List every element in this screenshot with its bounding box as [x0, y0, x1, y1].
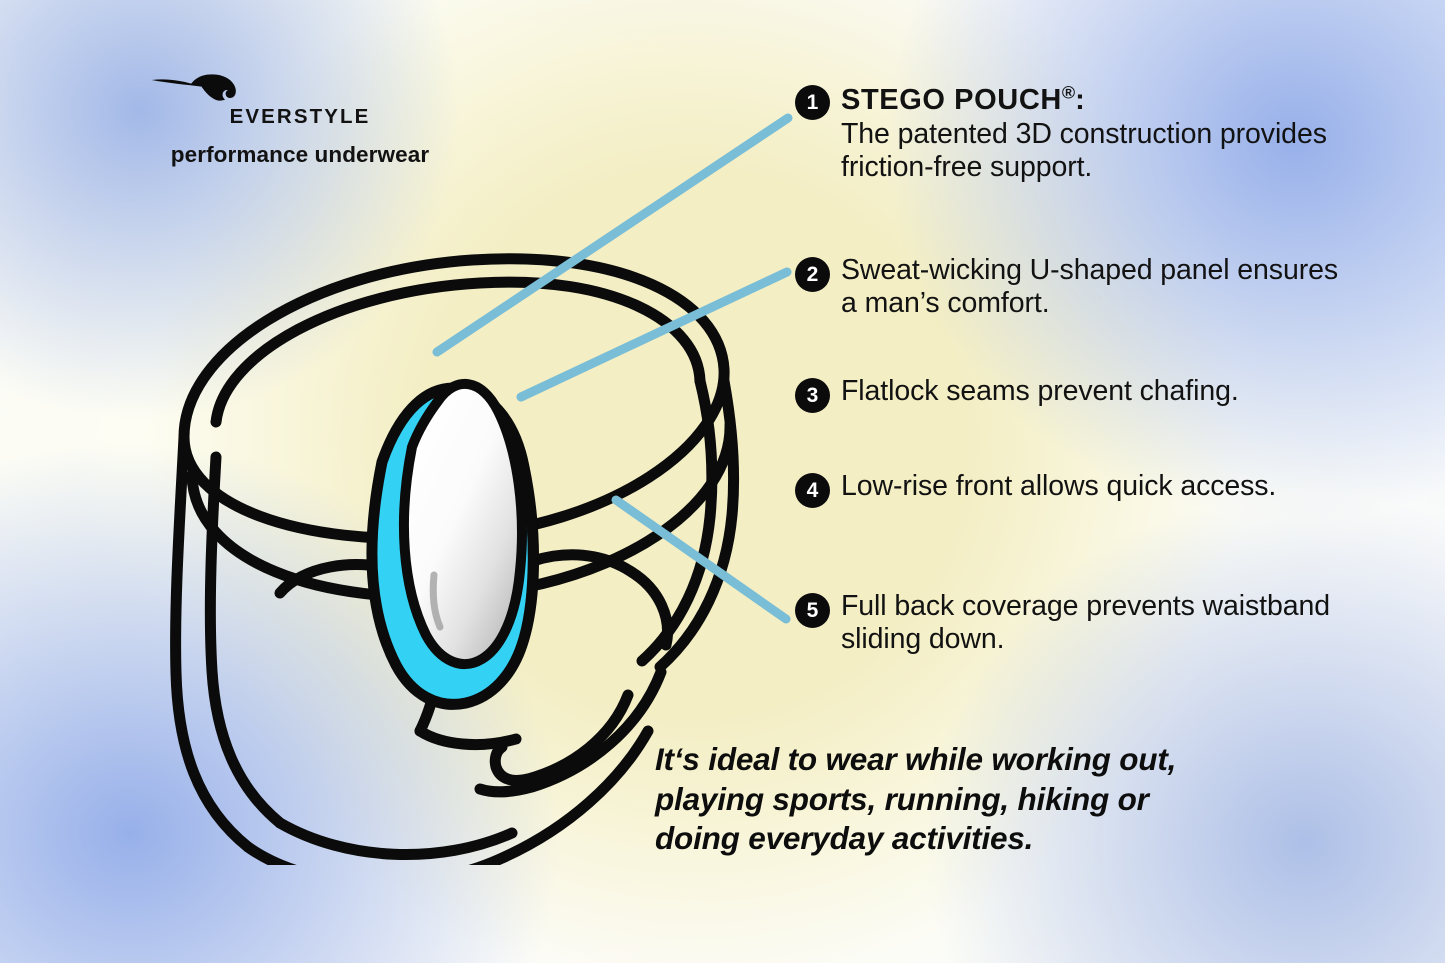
feature-text-2: Sweat-wicking U-shaped panel ensures a m… [841, 254, 1355, 321]
feature-text-3: Flatlock seams prevent chafing. [841, 375, 1239, 408]
brand-tagline: performance underwear [150, 142, 450, 168]
leg-opening-notch [495, 747, 528, 781]
feature-badge-5: 5 [795, 593, 830, 628]
feature-heading-1-colon: : [1075, 84, 1085, 116]
feature-body-3: Flatlock seams prevent chafing. [841, 375, 1239, 408]
brand-logo: EVERSTYLE performance underwear [150, 72, 450, 168]
feature-body-5: Full back coverage prevents waistband sl… [841, 590, 1355, 657]
feature-badge-1: 1 [795, 85, 830, 120]
feature-heading-1-label: STEGO POUCH [841, 84, 1062, 116]
gusset-seam [420, 731, 516, 745]
feature-body-2: Sweat-wicking U-shaped panel ensures a m… [841, 254, 1355, 321]
feature-text-5: Full back coverage prevents waistband sl… [841, 590, 1355, 657]
slogan-text: It‘s ideal to wear while working out, pl… [655, 740, 1355, 859]
registered-trademark-icon: ® [1062, 82, 1075, 102]
feature-body-1: The patented 3D construction provides fr… [841, 118, 1355, 185]
feature-text-4: Low-rise front allows quick access. [841, 470, 1276, 503]
feature-item-4: 4 Low-rise front allows quick access. [795, 470, 1355, 508]
feature-text-1: STEGO POUCH®: The patented 3D constructi… [841, 82, 1355, 184]
feature-item-1: 1 STEGO POUCH®: The patented 3D construc… [795, 82, 1355, 184]
feature-badge-4: 4 [795, 473, 830, 508]
feature-badge-3: 3 [795, 378, 830, 413]
feature-body-4: Low-rise front allows quick access. [841, 470, 1276, 503]
bottom-hem-curve-inner [280, 823, 512, 855]
feature-item-2: 2 Sweat-wicking U-shaped panel ensures a… [795, 254, 1355, 321]
corner-tint-bottom-right [925, 493, 1445, 963]
brand-wordmark: EVERSTYLE [150, 107, 450, 128]
infographic-canvas: EVERSTYLE performance underwear [0, 0, 1445, 963]
feature-badge-2: 2 [795, 257, 830, 292]
slogan-line-1: It‘s ideal to wear while working out, [655, 740, 1355, 780]
slogan-line-2: playing sports, running, hiking or [655, 780, 1355, 820]
slogan-line-3: doing everyday activities. [655, 819, 1355, 859]
feature-item-5: 5 Full back coverage prevents waistband … [795, 590, 1355, 657]
bird-silhouette-icon [150, 72, 257, 106]
feature-heading-1: STEGO POUCH®: [841, 84, 1085, 116]
stego-pouch-3d-body [404, 384, 522, 664]
feature-item-3: 3 Flatlock seams prevent chafing. [795, 375, 1355, 413]
